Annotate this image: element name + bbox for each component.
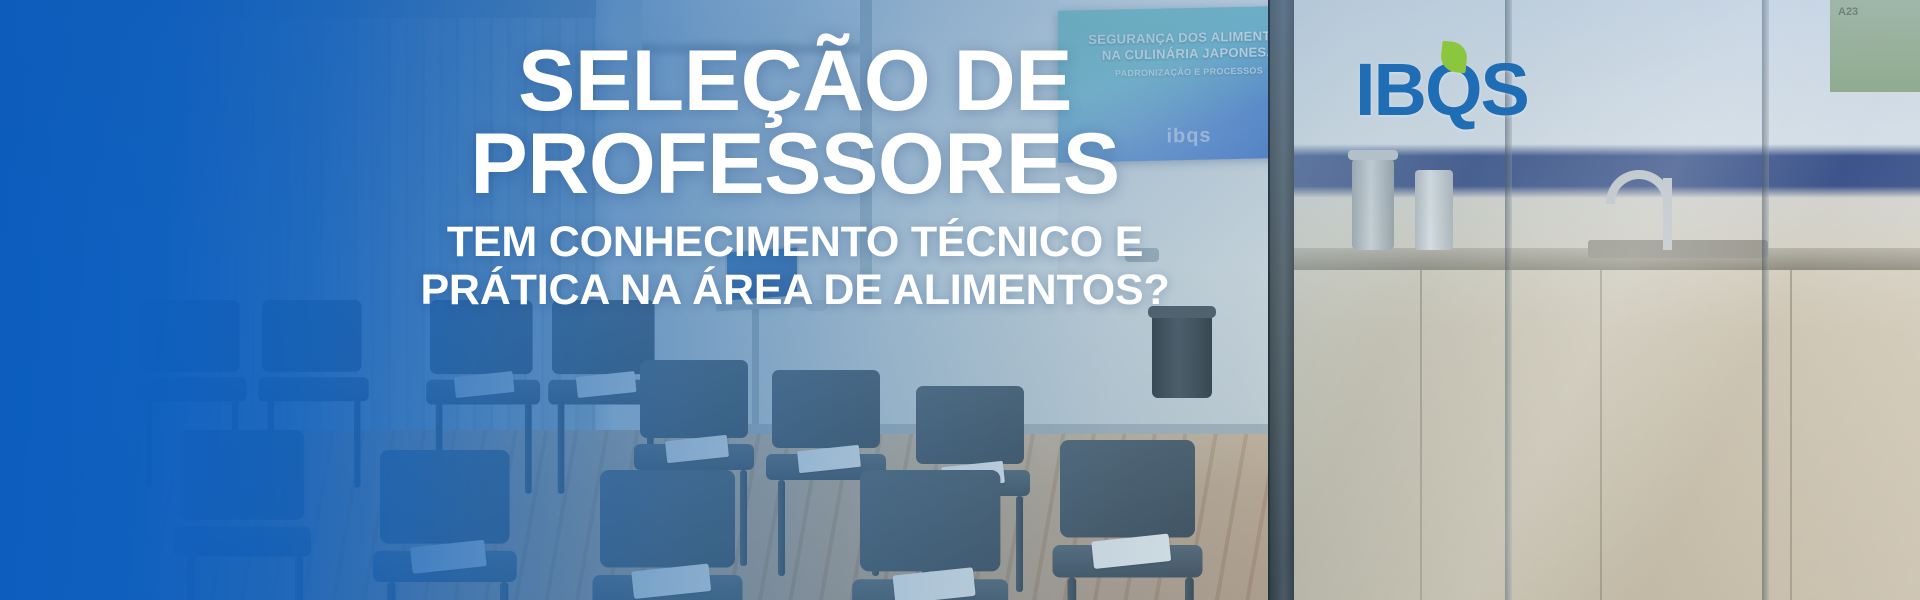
headline: SELEÇÃO DE PROFESSORES xyxy=(0,40,1920,207)
headline-line-2: PROFESSORES xyxy=(0,123,1920,206)
ibqs-logo-text: IBQS xyxy=(1355,48,1585,132)
headline-line-1: SELEÇÃO DE xyxy=(0,40,1920,123)
subheadline-line-1: TEM CONHECIMENTO TÉCNICO E xyxy=(0,218,1920,266)
subheadline: TEM CONHECIMENTO TÉCNICO E PRÁTICA NA ÁR… xyxy=(0,218,1920,314)
ibqs-logo[interactable]: IBQS xyxy=(1355,48,1585,132)
promo-banner: SEGURANÇA DOS ALIMENTOS NA CULINÁRIA JAP… xyxy=(0,0,1920,600)
banner-content: SELEÇÃO DE PROFESSORES TEM CONHECIMENTO … xyxy=(0,0,1920,600)
subheadline-line-2: PRÁTICA NA ÁREA DE ALIMENTOS? xyxy=(0,266,1920,314)
